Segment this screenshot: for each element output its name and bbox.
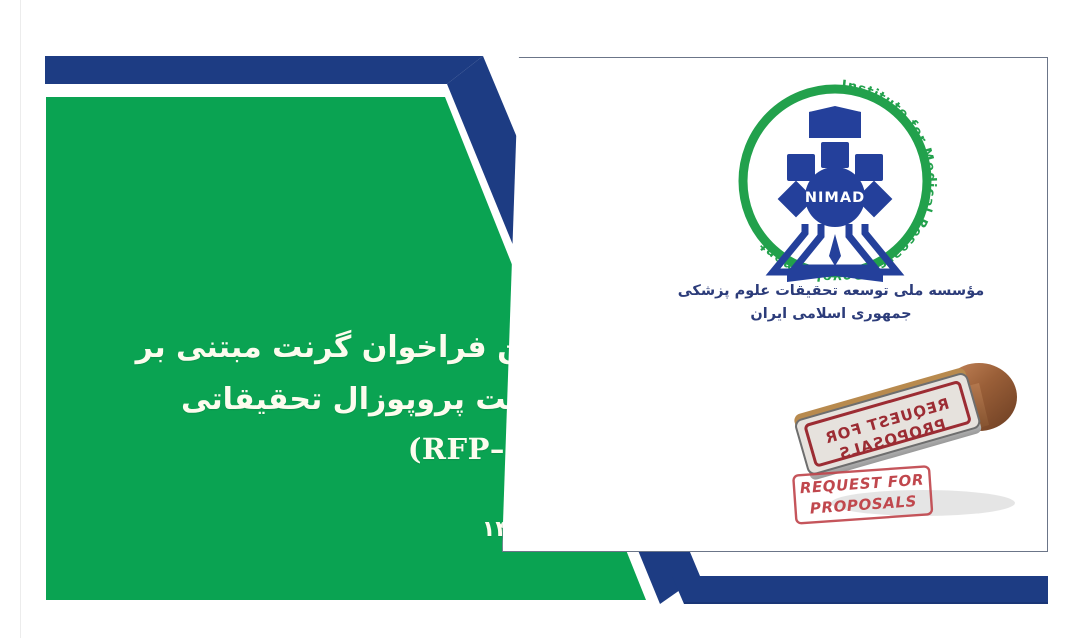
blue-ribbon-bottom xyxy=(672,576,1048,604)
square-icon xyxy=(821,142,849,168)
logo-caption: مؤسسه ملی توسعه تحقیقات علوم پزشکی جمهور… xyxy=(631,280,1031,327)
logo-caption-line-2: جمهوری اسلامی ایران xyxy=(631,303,1031,326)
nimad-logo: National Institute for Medical Research … xyxy=(725,76,945,291)
blue-ribbon-shadow xyxy=(684,602,1048,604)
logo-acronym: NIMAD xyxy=(805,190,865,206)
rfp-rubber-stamp-image: REQUEST FOR PROPOSALS REQUEST FOR PROPOS… xyxy=(783,353,1033,538)
logo-caption-line-1: مؤسسه ملی توسعه تحقیقات علوم پزشکی xyxy=(631,280,1031,303)
square-icon xyxy=(787,154,815,181)
cover-page: هشتمین فراخوان گرنت مبتنی بر درخواست پرو… xyxy=(0,0,1080,638)
blue-ribbon-top xyxy=(45,56,483,84)
square-icon xyxy=(855,154,883,181)
logo-card: National Institute for Medical Research … xyxy=(502,57,1048,552)
